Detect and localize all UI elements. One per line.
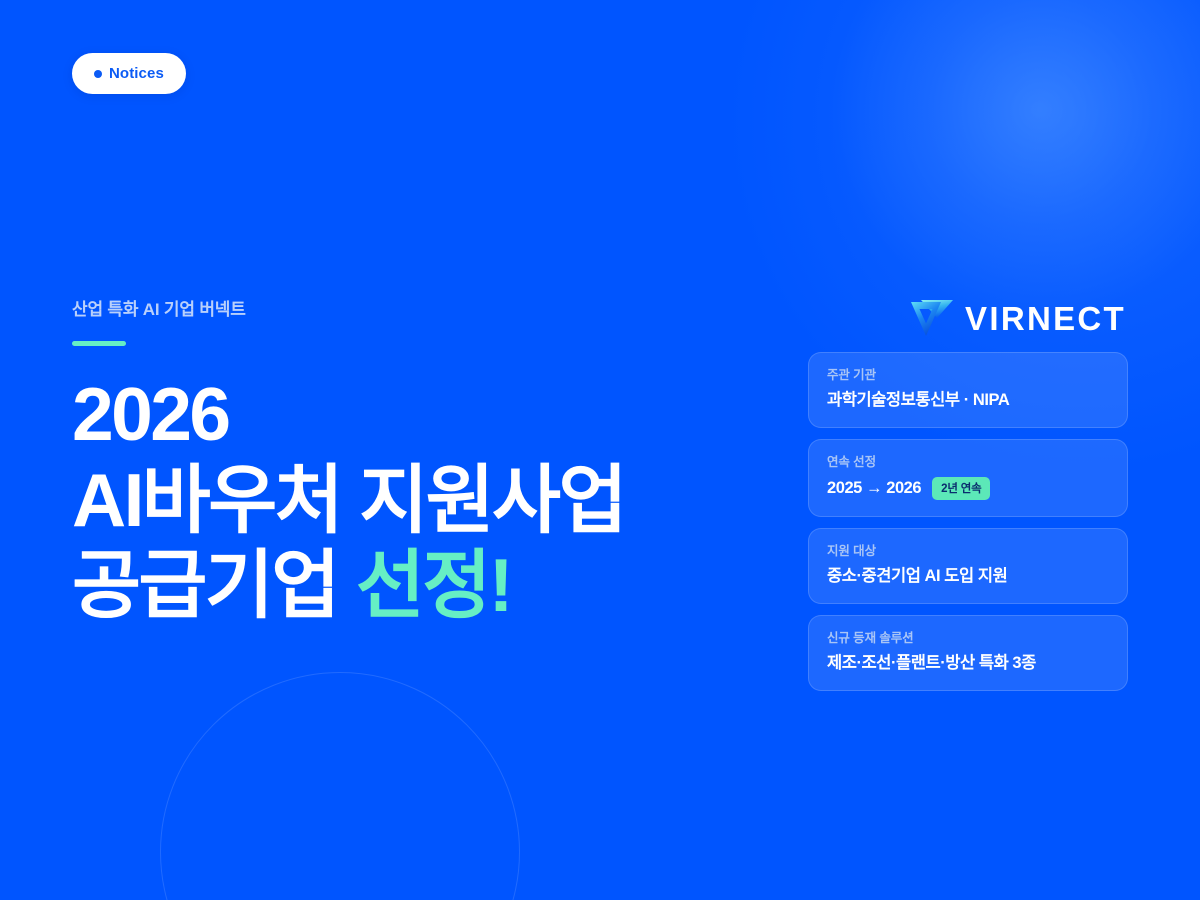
brand-wordmark: VIRNECT xyxy=(965,302,1126,335)
notices-badge-label: Notices xyxy=(109,65,164,82)
bullet-dot-icon xyxy=(94,70,102,78)
info-card-value-row: 2025 → 2026 2년 연속 xyxy=(827,477,1109,500)
info-card-label: 지원 대상 xyxy=(827,543,1109,559)
info-card-solutions: 신규 등재 솔루션 제조·조선·플랜트·방산 특화 3종 xyxy=(808,615,1128,691)
hero-text-block: 산업 특화 AI 기업 버넥트 2026 AI바우처 지원사업 공급기업 선정! xyxy=(72,300,772,628)
info-card-value-row: 제조·조선·플랜트·방산 특화 3종 xyxy=(827,653,1109,674)
info-card-value-row: 중소·중견기업 AI 도입 지원 xyxy=(827,566,1109,587)
info-card-label: 연속 선정 xyxy=(827,454,1109,470)
info-card-value: 과학기술정보통신부 · NIPA xyxy=(827,390,1009,411)
info-card-label: 신규 등재 솔루션 xyxy=(827,630,1109,646)
status-badge: 2년 연속 xyxy=(932,477,990,500)
background-glow-inner xyxy=(830,0,1200,320)
headline-line-1: 2026 xyxy=(72,372,772,457)
virnect-v-triangle-icon xyxy=(910,298,954,338)
brand-logo: VIRNECT xyxy=(808,296,1128,340)
background-circle-outline xyxy=(160,672,520,900)
headline-line-3-accent: 선정! xyxy=(356,543,511,627)
headline-line-3: 공급기업 선정! xyxy=(72,543,772,628)
headline-line-2: AI바우처 지원사업 xyxy=(72,458,772,543)
page-title: 2026 AI바우처 지원사업 공급기업 선정! xyxy=(72,372,772,627)
info-panel: VIRNECT 주관 기관 과학기술정보통신부 · NIPA 연속 선정 202… xyxy=(808,296,1128,702)
info-card-value-row: 과학기술정보통신부 · NIPA xyxy=(827,390,1109,411)
info-card-consecutive: 연속 선정 2025 → 2026 2년 연속 xyxy=(808,439,1128,517)
info-card-label: 주관 기관 xyxy=(827,367,1109,383)
info-card-value: 2025 → 2026 xyxy=(827,478,921,499)
headline-line-3-main: 공급기업 xyxy=(72,543,356,627)
hero-eyebrow-rule xyxy=(72,341,126,346)
hero-eyebrow: 산업 특화 AI 기업 버넥트 xyxy=(72,300,772,320)
info-card-target: 지원 대상 중소·중견기업 AI 도입 지원 xyxy=(808,528,1128,604)
info-card-value: 중소·중견기업 AI 도입 지원 xyxy=(827,566,1007,587)
info-card-value: 제조·조선·플랜트·방산 특화 3종 xyxy=(827,653,1036,674)
info-card-organizer: 주관 기관 과학기술정보통신부 · NIPA xyxy=(808,352,1128,428)
notices-badge[interactable]: Notices xyxy=(72,53,186,94)
notice-card-canvas: Notices 산업 특화 AI 기업 버넥트 2026 AI바우처 지원사업 … xyxy=(0,0,1200,900)
